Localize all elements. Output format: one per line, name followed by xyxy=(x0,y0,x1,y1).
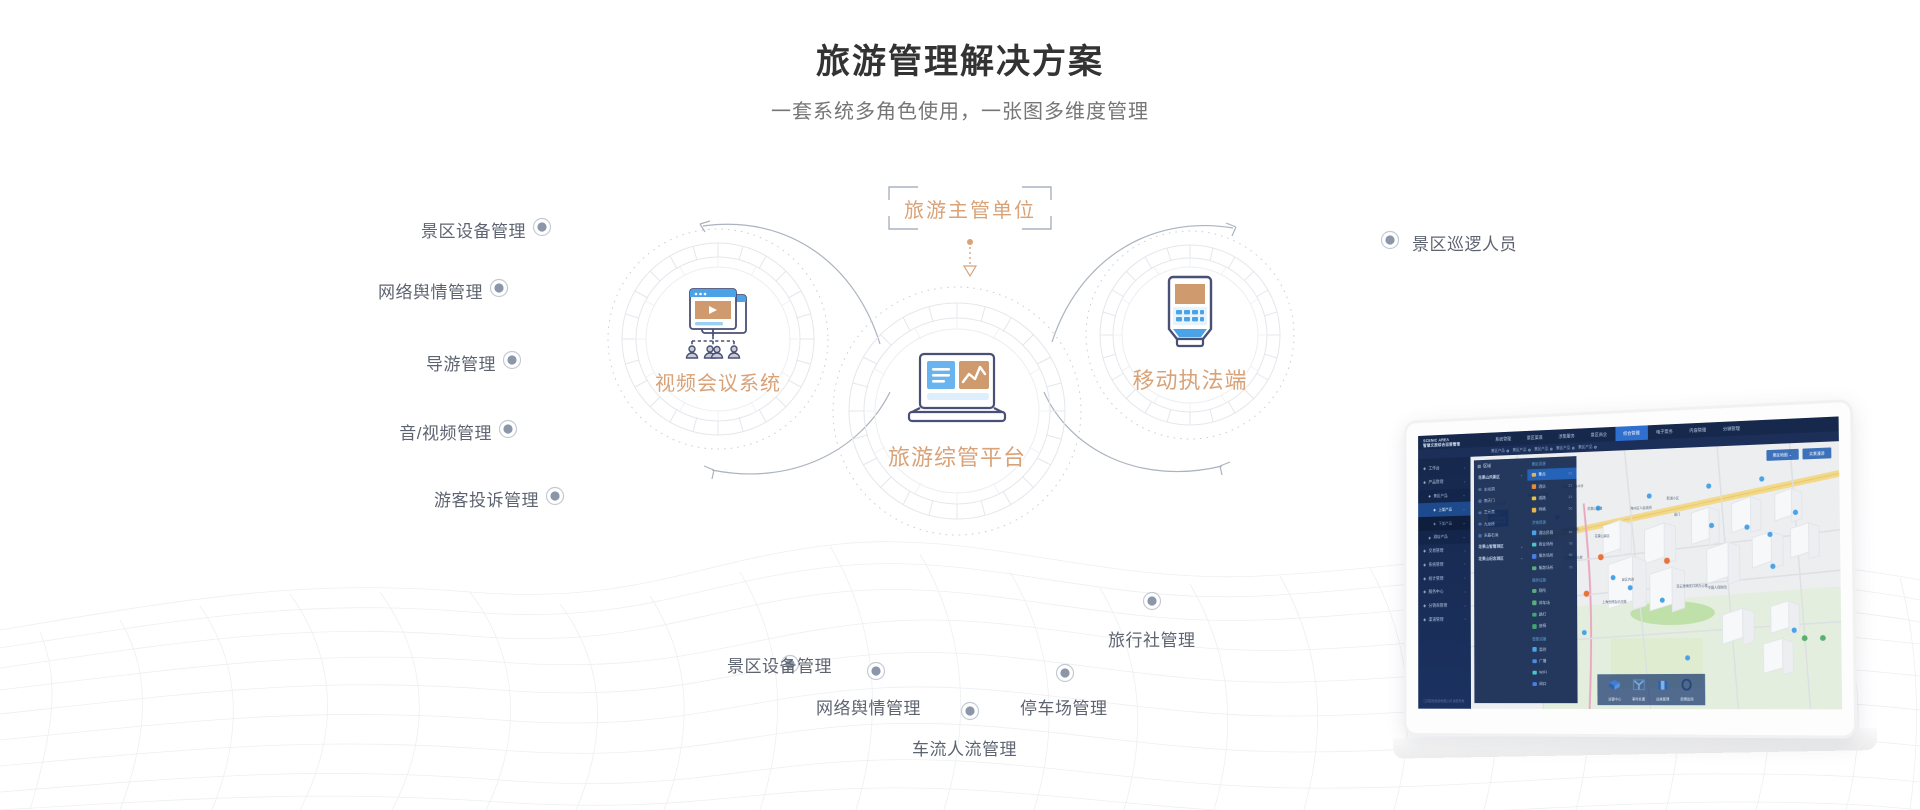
page-title: 旅游管理解决方案 xyxy=(0,40,1920,84)
chevron-icon: › xyxy=(1464,562,1465,567)
laptop-body: SCENIC AREA 智慧文旅综合运营管理 系统管理景区渠道涉旅服务景区商企综… xyxy=(1404,399,1857,739)
chevron-icon: › xyxy=(1465,617,1466,622)
resource-type-icon xyxy=(1532,566,1536,570)
resource-type-icon xyxy=(1532,670,1536,674)
resource-row[interactable]: 厕所 xyxy=(1528,584,1577,597)
dotted-down-arrow-icon xyxy=(961,238,979,278)
chevron-icon: ⌄ xyxy=(1463,520,1466,525)
bottom-label-1: 网络舆情管理 xyxy=(816,694,921,719)
page-subtitle: 一套系统多角色使用，一张图多维度管理 xyxy=(0,98,1920,126)
node-tourism-platform[interactable]: 旅游综管平台 xyxy=(832,286,1082,536)
dashboard-sidebar-item[interactable]: ◈分销商管理› xyxy=(1418,599,1471,614)
dashboard-sidebar[interactable]: ◈工作台›◈产品管理›◈景区产品⌄◈上架产品⌄◈下架产品⌄◈酒店产品⌄◈交易管理… xyxy=(1418,457,1471,709)
map-dock-item[interactable]: 事件处置 xyxy=(1632,678,1645,702)
node-label-mobile-enforcement: 移动执法端 xyxy=(1132,363,1247,395)
chevron-icon[interactable]: ⌃ xyxy=(1520,474,1523,479)
close-icon[interactable] xyxy=(1550,447,1553,450)
dashboard-nav-item[interactable]: 景区渠道 xyxy=(1519,430,1551,446)
map-poi-label: 南门 xyxy=(1674,512,1680,517)
resource-row[interactable]: 停车场 xyxy=(1528,596,1577,609)
left-label-4: 游客投诉管理 xyxy=(292,486,539,511)
chevron-icon: ⌄ xyxy=(1463,534,1466,539)
chevron-icon: › xyxy=(1464,465,1465,470)
dashboard-tab[interactable]: 景区产品 xyxy=(1513,447,1531,453)
resource-type-icon xyxy=(1532,496,1536,500)
folder-blue-icon xyxy=(1656,678,1669,696)
resource-type-icon xyxy=(1532,682,1536,686)
y-branch-icon xyxy=(1632,678,1645,695)
map-poi-label: 海州区人民政府 xyxy=(1630,505,1652,511)
dashboard-nav-item[interactable]: 景区商企 xyxy=(1583,427,1615,443)
dashboard-tab[interactable]: 景区产品 xyxy=(1556,445,1575,451)
resource-type-icon xyxy=(1532,589,1536,593)
node-mobile-enforcement[interactable]: 移动执法端 xyxy=(1085,230,1295,440)
resource-count: 76 xyxy=(1569,565,1573,569)
map-poi-label: 中国人保财险 xyxy=(1708,584,1727,589)
map-dock[interactable]: 运管中心事件处置运维管理舆情监测 xyxy=(1597,674,1704,705)
menu-icon: ◈ xyxy=(1423,480,1426,486)
region-panel[interactable]: ▤ 区域 花果山风景区⌃水帘洞南天门三元宫九龙桥东磊石海花果山智管测区⌄花果山纪… xyxy=(1474,458,1528,703)
resource-count: 45 xyxy=(1569,530,1573,534)
resource-count: 23 xyxy=(1568,495,1572,499)
map-poi-label: 连云港海关口岸办公楼 xyxy=(1676,583,1707,588)
menu-icon: ◈ xyxy=(1423,466,1426,472)
dashboard-nav-item[interactable]: 综合管理 xyxy=(1615,425,1648,441)
map-poi-label: 上海世博会纪念展 xyxy=(1602,599,1626,604)
bullet-icon xyxy=(1478,534,1481,537)
menu-icon: ◈ xyxy=(1423,603,1426,609)
laptop-screen: SCENIC AREA 智慧文旅综合运营管理 系统管理景区渠道涉旅服务景区商企综… xyxy=(1418,416,1842,709)
dashboard-nav-item[interactable]: 内容管理 xyxy=(1681,422,1715,438)
map-poi-label: 新浦小区 xyxy=(1667,495,1679,500)
dashboard-nav-item[interactable]: 电子票务 xyxy=(1648,424,1681,440)
dashboard-sidebar-item[interactable]: ◈服务中心› xyxy=(1418,585,1471,600)
dashboard-tab[interactable]: 景区产品 xyxy=(1491,448,1509,454)
resource-row[interactable]: 集散场所76 xyxy=(1528,561,1577,574)
dashboard-sidebar-item[interactable]: ◈统计管理› xyxy=(1418,571,1471,586)
left-label-2: 导游管理 xyxy=(256,350,496,375)
menu-icon: ◈ xyxy=(1423,617,1426,623)
dashboard-sidebar-item[interactable]: ◈酒店产品⌄ xyxy=(1418,529,1470,544)
resource-type-icon xyxy=(1532,484,1536,488)
bottom-label-3: 停车场管理 xyxy=(1020,694,1108,719)
resource-section-title: 智能设备 xyxy=(1528,632,1577,644)
resource-panel[interactable]: 景区资源景点23酒店23道路23网格56涉旅资源酒店民宿45商业场所78服务场所… xyxy=(1527,456,1577,703)
dashboard-tab[interactable]: 景区产品 xyxy=(1534,446,1552,452)
map-control-button[interactable]: 景区地图 ⌄ xyxy=(1766,449,1799,461)
map-dock-item[interactable]: 舆情监测 xyxy=(1680,678,1693,702)
resource-row[interactable]: 路灯 xyxy=(1528,608,1577,620)
map-dock-item[interactable]: 运管中心 xyxy=(1608,678,1621,702)
chevron-icon[interactable]: ⌄ xyxy=(1520,544,1523,549)
menu-icon: ◈ xyxy=(1433,521,1436,526)
dashboard-nav-item[interactable]: 涉旅服务 xyxy=(1551,428,1583,444)
map-poi-label: 花果山大道 xyxy=(1587,506,1602,511)
solution-diagram-page: 旅游管理解决方案 一套系统多角色使用，一张图多维度管理 xyxy=(0,0,1920,810)
map-poi-label: 花果山景区 xyxy=(1595,533,1610,538)
chevron-icon: › xyxy=(1464,548,1465,553)
resource-type-icon xyxy=(1532,601,1536,605)
dashboard-sidebar-item[interactable]: ◈系统管理› xyxy=(1418,557,1471,572)
left-label-0: 景区设备管理 xyxy=(280,217,526,242)
resource-count: 23 xyxy=(1568,483,1572,487)
ring-dark-icon xyxy=(1680,678,1693,696)
authority-label: 旅游主管单位 xyxy=(904,194,1036,223)
resource-type-icon xyxy=(1532,612,1536,616)
laptop-dashboard-icon xyxy=(904,350,1010,432)
chevron-icon: › xyxy=(1464,589,1465,594)
menu-icon: ◈ xyxy=(1423,562,1426,568)
bottom-label-0: 景区设备管理 xyxy=(727,652,832,677)
map-control-button[interactable]: 实景漫游 xyxy=(1802,447,1831,459)
sidebar-footer: 江苏智慧旅游有限公司 版权所有 xyxy=(1418,695,1471,709)
resource-type-icon xyxy=(1532,647,1536,651)
bottom-label-4: 旅行社管理 xyxy=(1108,626,1196,651)
resource-row[interactable]: 广播 xyxy=(1528,655,1577,667)
chevron-icon: › xyxy=(1464,576,1465,581)
map-poi-label: 景区内游 xyxy=(1622,577,1634,582)
resource-row[interactable]: 监控 xyxy=(1528,643,1577,655)
menu-icon: ◈ xyxy=(1423,590,1426,596)
close-icon[interactable] xyxy=(1528,448,1531,451)
dashboard-main: ◈工作台›◈产品管理›◈景区产品⌄◈上架产品⌄◈下架产品⌄◈酒店产品⌄◈交易管理… xyxy=(1418,441,1842,709)
resource-row[interactable]: 座椅 xyxy=(1528,620,1577,632)
dashboard-sidebar-item[interactable]: ◈渠道管理› xyxy=(1418,612,1471,627)
bullet-icon xyxy=(1478,488,1481,491)
resource-type-icon xyxy=(1532,508,1536,512)
resource-type-icon xyxy=(1532,531,1536,535)
cube-blue-icon xyxy=(1608,678,1621,695)
chevron-icon: ⌄ xyxy=(1463,493,1466,498)
dashboard-nav-item[interactable]: 分销管理 xyxy=(1714,421,1748,437)
left-label-3: 音/视频管理 xyxy=(250,419,492,444)
resource-type-icon xyxy=(1532,659,1536,663)
resource-type-icon xyxy=(1532,542,1536,546)
resource-count: 78 xyxy=(1569,542,1573,546)
resource-count: 55 xyxy=(1569,554,1573,558)
resource-row[interactable]: WIFI xyxy=(1528,667,1577,678)
resource-section-title: 服务设施 xyxy=(1528,573,1577,585)
bullet-icon xyxy=(1478,511,1481,514)
resource-type-icon xyxy=(1532,554,1536,558)
left-label-1: 网络舆情管理 xyxy=(240,278,483,303)
close-icon[interactable] xyxy=(1572,446,1575,449)
node-label-tourism-platform: 旅游综管平台 xyxy=(888,440,1026,472)
dashboard-sidebar-item[interactable]: ◈交易管理› xyxy=(1418,543,1471,558)
grid-icon: ▤ xyxy=(1477,464,1481,470)
resource-type-icon xyxy=(1532,624,1536,628)
resource-count: 23 xyxy=(1568,472,1572,476)
dashboard-nav-item[interactable]: 系统管理 xyxy=(1488,431,1519,446)
chevron-icon: ⌄ xyxy=(1463,507,1466,512)
handheld-terminal-icon xyxy=(1159,275,1221,355)
resource-count: 56 xyxy=(1568,507,1572,511)
dashboard-tab[interactable]: 景区产品 xyxy=(1578,444,1597,450)
bottom-label-2: 车流人流管理 xyxy=(912,735,1017,760)
node-label-video-conference: 视频会议系统 xyxy=(655,367,781,396)
resource-row[interactable]: 闸口 xyxy=(1528,678,1577,690)
bullet-icon xyxy=(1478,523,1481,526)
bullet-icon xyxy=(1478,499,1481,502)
chevron-icon[interactable]: ⌄ xyxy=(1520,556,1523,561)
map-dock-item[interactable]: 运维管理 xyxy=(1656,678,1669,702)
dashboard: SCENIC AREA 智慧文旅综合运营管理 系统管理景区渠道涉旅服务景区商企综… xyxy=(1418,416,1842,709)
close-icon[interactable] xyxy=(1506,449,1509,452)
close-icon[interactable] xyxy=(1594,445,1597,448)
video-conference-icon xyxy=(676,283,760,359)
dashboard-map-area[interactable]: 景区地图 ⌄实景漫游 入园口 游客高峰期 分布最大值 连岛景区 市第一人民医院 … xyxy=(1470,441,1842,709)
menu-icon: ◈ xyxy=(1423,576,1426,582)
laptop-mockup: SCENIC AREA 智慧文旅综合运营管理 系统管理景区渠道涉旅服务景区商企综… xyxy=(1355,398,1915,798)
node-video-conference[interactable]: 视频会议系统 xyxy=(607,228,829,450)
right-label-0: 景区巡逻人员 xyxy=(1412,230,1517,255)
page-header: 旅游管理解决方案 一套系统多角色使用，一张图多维度管理 xyxy=(0,40,1920,126)
authority-box: 旅游主管单位 xyxy=(888,186,1052,230)
menu-icon: ◈ xyxy=(1423,549,1426,555)
menu-icon: ◈ xyxy=(1428,494,1431,499)
resource-type-icon xyxy=(1532,473,1536,477)
region-group-row[interactable]: 花果山纪念测区⌄ xyxy=(1474,552,1528,565)
chevron-icon: › xyxy=(1464,479,1465,484)
menu-icon: ◈ xyxy=(1433,508,1436,513)
menu-icon: ◈ xyxy=(1428,535,1431,540)
dashboard-logo: SCENIC AREA 智慧文旅综合运营管理 xyxy=(1418,435,1487,447)
chevron-icon: › xyxy=(1464,603,1465,608)
